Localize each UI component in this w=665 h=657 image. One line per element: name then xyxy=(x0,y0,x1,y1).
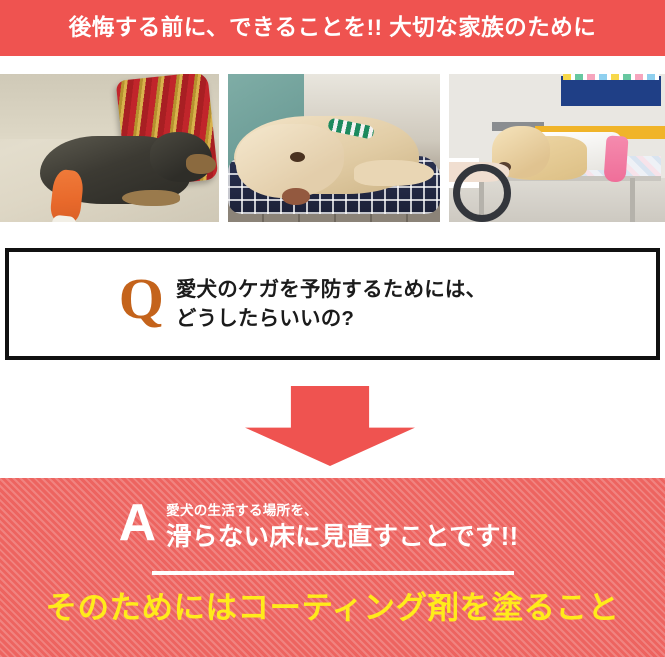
answer-divider xyxy=(152,571,514,575)
answer-lines: 愛犬の生活する場所を、 滑らない床に見直すことです!! xyxy=(166,500,518,552)
photo3-shelf xyxy=(561,76,660,106)
question-text: 愛犬のケガを予防するためには、 どうしたらいいの? xyxy=(176,275,487,333)
photo2-dog-eye xyxy=(290,152,305,162)
answer-letter-a: A xyxy=(119,500,157,548)
answer-main-text: 滑らない床に見直すことです!! xyxy=(166,522,518,553)
photo2-dog-nose xyxy=(282,188,310,205)
question-inner: Q 愛犬のケガを予防するためには、 どうしたらいいの? xyxy=(119,275,487,333)
answer-highlight-text: そのためにはコーティング剤を塗ること xyxy=(0,588,665,627)
photo1-dog-paw xyxy=(122,190,180,206)
arrow-section xyxy=(0,386,665,468)
question-box: Q 愛犬のケガを予防するためには、 どうしたらいいの? xyxy=(5,248,660,360)
photo-golden-retriever-clinic xyxy=(449,74,665,222)
photo3-pink-cast xyxy=(603,135,628,182)
header-title: 後悔する前に、できることを!! 大切な家族のために xyxy=(69,17,597,40)
photo3-table-leg-right xyxy=(630,178,635,222)
answer-block: A 愛犬の生活する場所を、 滑らない床に見直すことです!! xyxy=(0,500,665,552)
photo3-cart-wheel xyxy=(453,164,511,222)
question-letter-q: Q xyxy=(119,271,164,326)
photo-injured-small-dog xyxy=(0,74,219,222)
answer-lead-text: 愛犬の生活する場所を、 xyxy=(166,503,518,520)
arrow-down-icon xyxy=(245,386,415,466)
photo-strip xyxy=(0,74,665,222)
photo-labrador-on-bed xyxy=(228,74,440,222)
answer-row: A 愛犬の生活する場所を、 滑らない床に見直すことです!! xyxy=(119,500,519,552)
photo1-dog-snout xyxy=(186,154,216,174)
answer-section: A 愛犬の生活する場所を、 滑らない床に見直すことです!! そのためにはコーティ… xyxy=(0,478,665,657)
photo2-dog-leg xyxy=(354,160,434,186)
header-banner: 後悔する前に、できることを!! 大切な家族のために xyxy=(0,0,665,56)
